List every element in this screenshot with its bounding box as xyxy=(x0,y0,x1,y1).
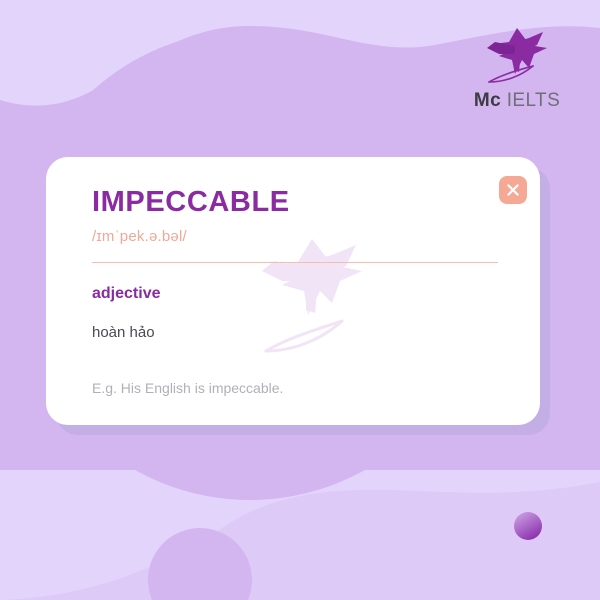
word-part-of-speech: adjective xyxy=(92,285,494,303)
screen-root: Mc IELTS IMPECCABLE /ɪmˈpek.ə.bəl/ xyxy=(0,0,600,600)
word-example-sentence: E.g. His English is impeccable. xyxy=(92,380,494,396)
brand-logo: Mc IELTS xyxy=(462,26,572,118)
brand-name-light: IELTS xyxy=(507,90,560,111)
card-body: IMPECCABLE /ɪmˈpek.ə.bəl/ adjective hoàn… xyxy=(46,157,540,425)
hummingbird-logo-icon xyxy=(471,26,563,88)
accent-dot xyxy=(514,512,542,540)
word-meaning: hoàn hảo xyxy=(92,324,494,341)
brand-name-bold: Mc xyxy=(474,90,501,111)
brand-wordmark: Mc IELTS xyxy=(462,91,572,110)
word-phonetic: /ɪmˈpek.ə.bəl/ xyxy=(92,228,494,245)
card-divider xyxy=(92,262,498,263)
word-title: IMPECCABLE xyxy=(92,187,494,219)
vocabulary-card: IMPECCABLE /ɪmˈpek.ə.bəl/ adjective hoàn… xyxy=(46,157,540,425)
